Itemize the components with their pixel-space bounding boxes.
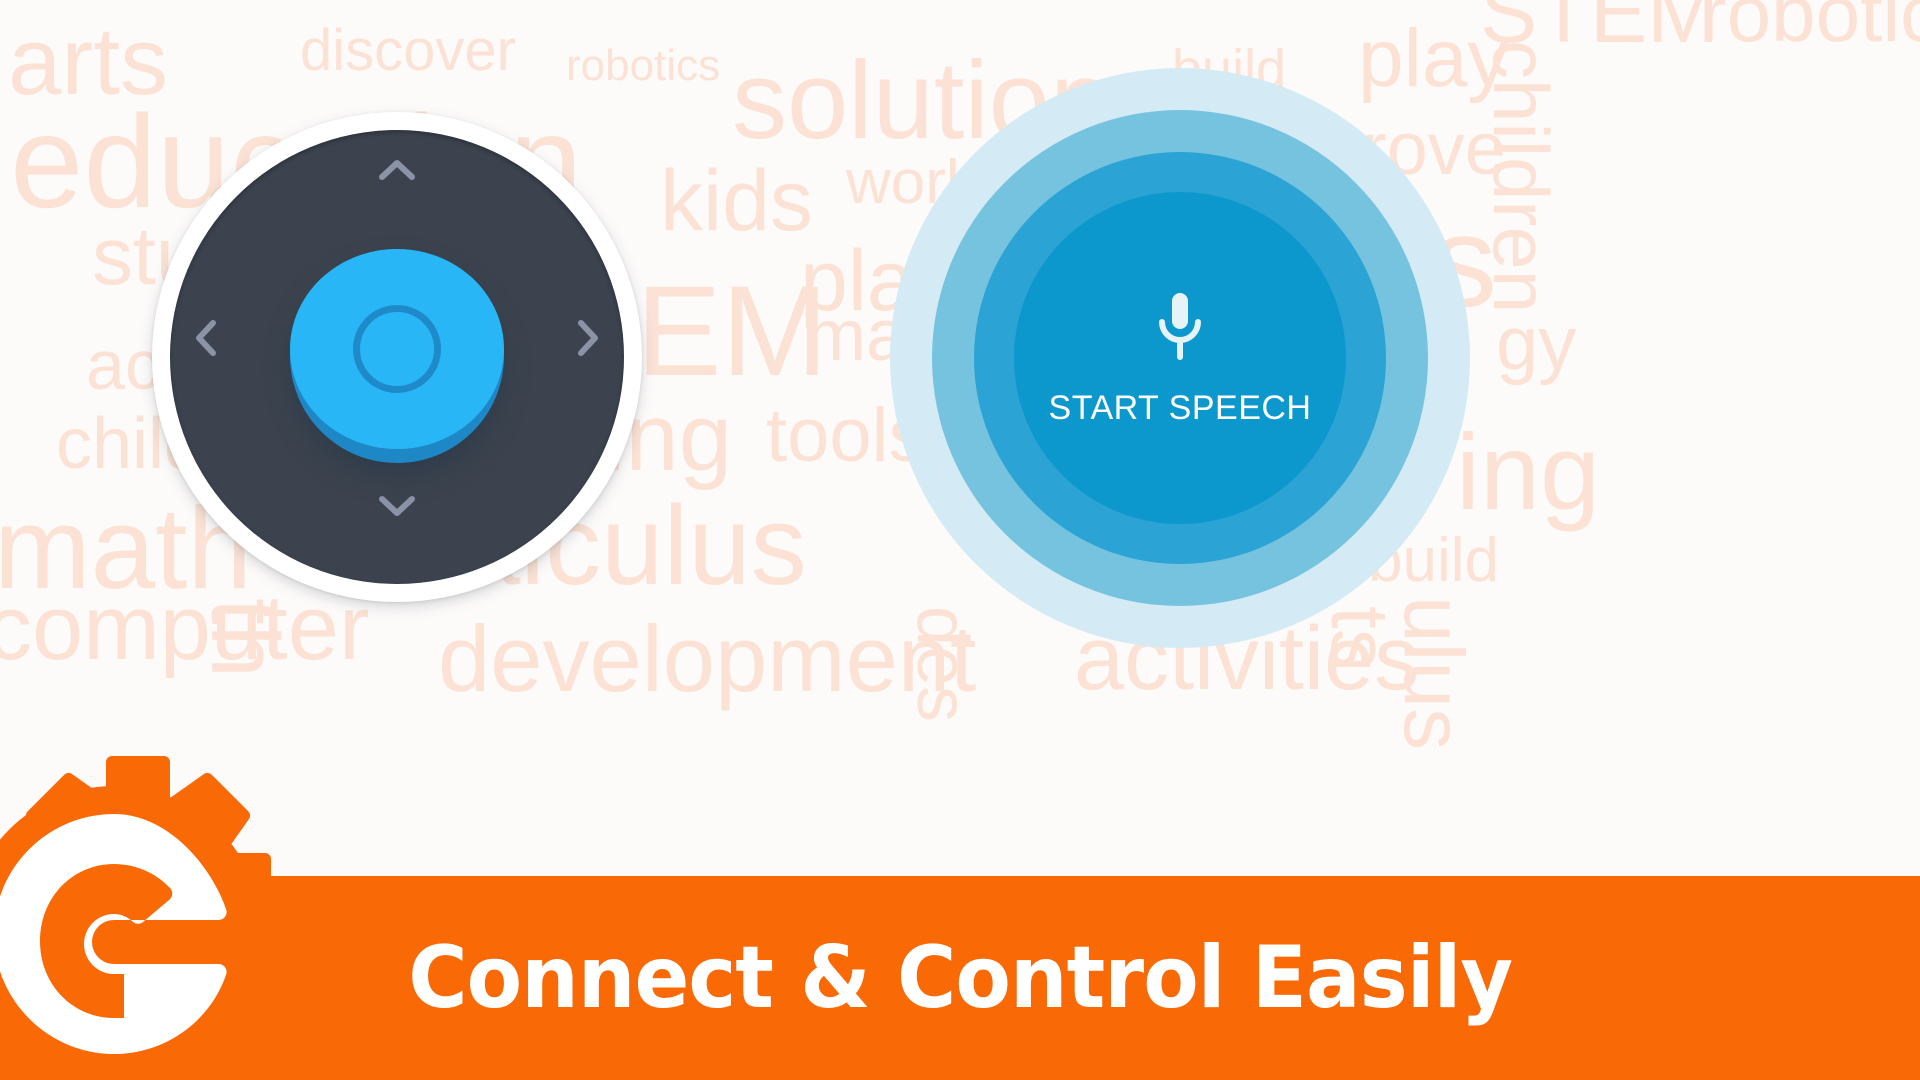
speech-button-label: START SPEECH: [1049, 389, 1312, 428]
chevron-right-icon[interactable]: [566, 316, 610, 360]
chevron-left-icon[interactable]: [184, 316, 228, 360]
microphone-icon: [1152, 289, 1208, 365]
banner-title: Connect & Control Easily: [408, 928, 1512, 1028]
chevron-up-icon[interactable]: [375, 148, 419, 192]
control-stage: START SPEECH: [0, 0, 1920, 876]
joystick-knob-center-ring: [353, 305, 441, 393]
directional-joystick[interactable]: [152, 112, 642, 602]
speech-button-content: START SPEECH: [1014, 192, 1346, 524]
joystick-knob[interactable]: [290, 249, 504, 463]
chevron-down-icon[interactable]: [375, 484, 419, 528]
start-speech-button[interactable]: START SPEECH: [890, 68, 1470, 648]
gear-g-logo: [0, 748, 292, 1080]
